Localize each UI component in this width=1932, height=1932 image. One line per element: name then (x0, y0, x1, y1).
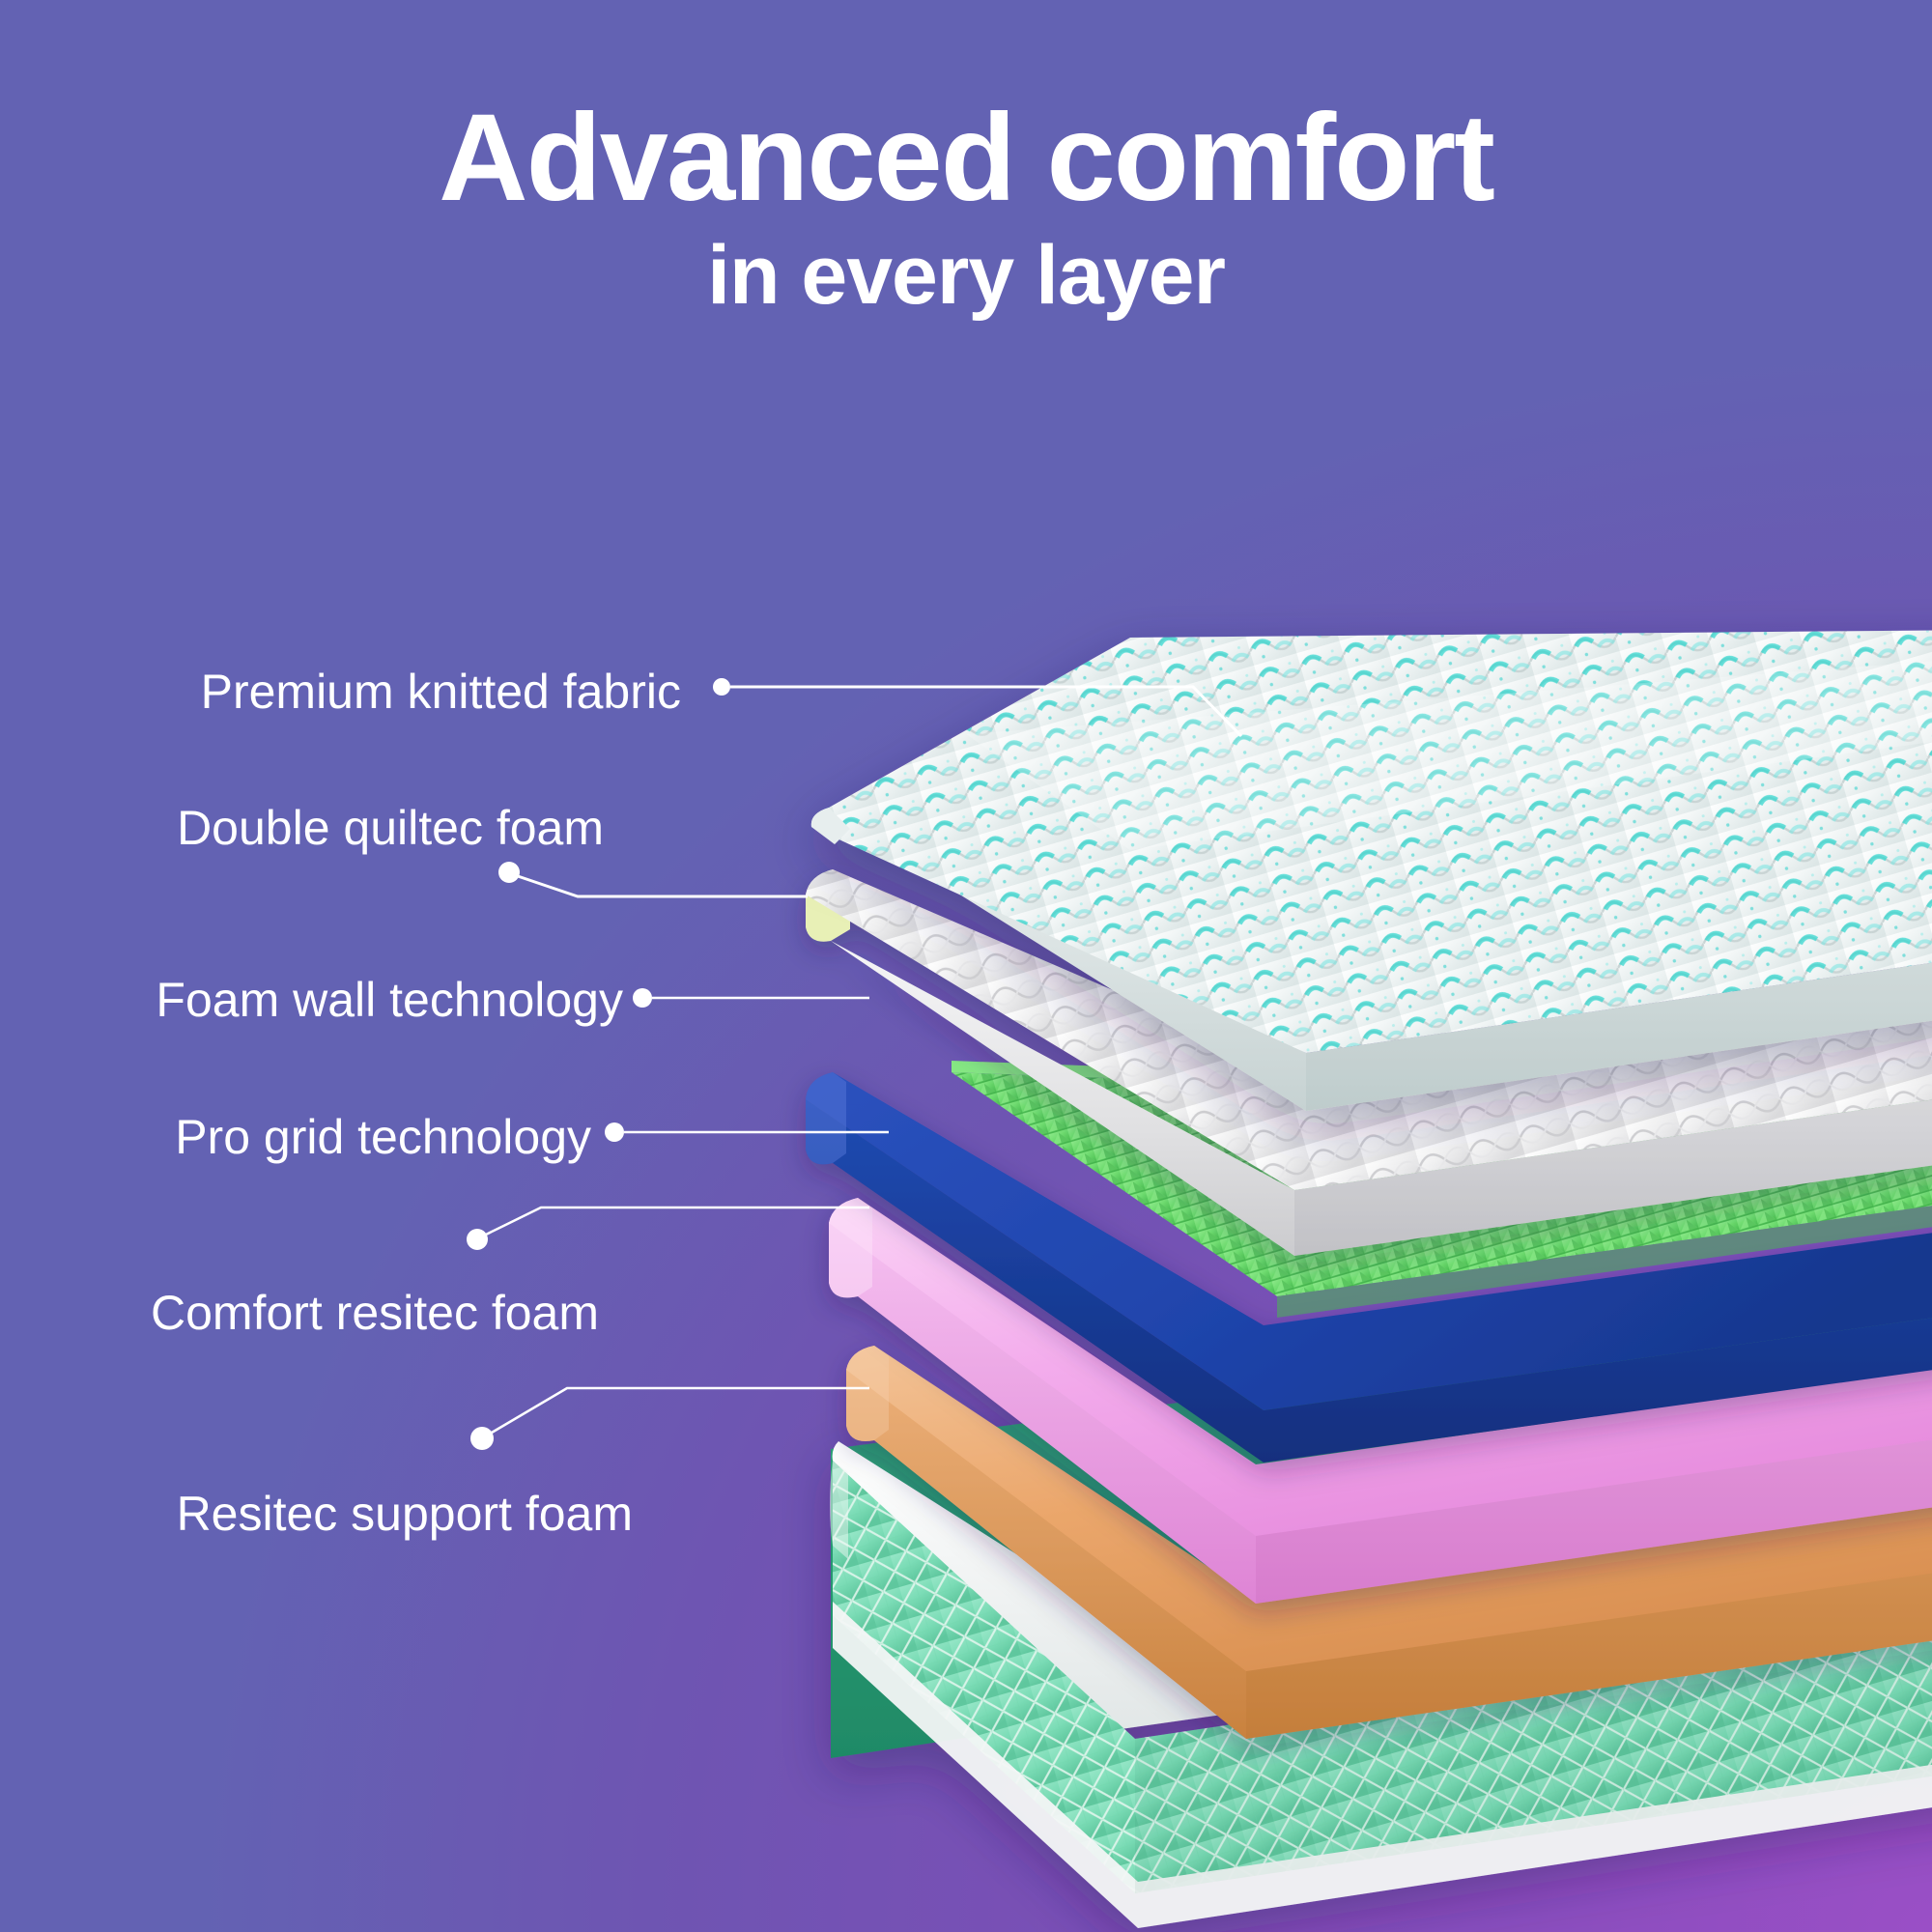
connector-resitec-support-foam (470, 1388, 869, 1450)
connector-double-quiltec-foam (498, 862, 808, 896)
infographic-canvas: Advanced comfort in every layer (0, 0, 1932, 1932)
connector-pro-grid-technology (605, 1122, 889, 1142)
connector-foam-wall-technology (633, 988, 869, 1008)
connector-premium-knitted-fabric (713, 678, 1241, 736)
connector-lines (0, 0, 1932, 1932)
connector-comfort-resitec-foam (467, 1207, 869, 1250)
